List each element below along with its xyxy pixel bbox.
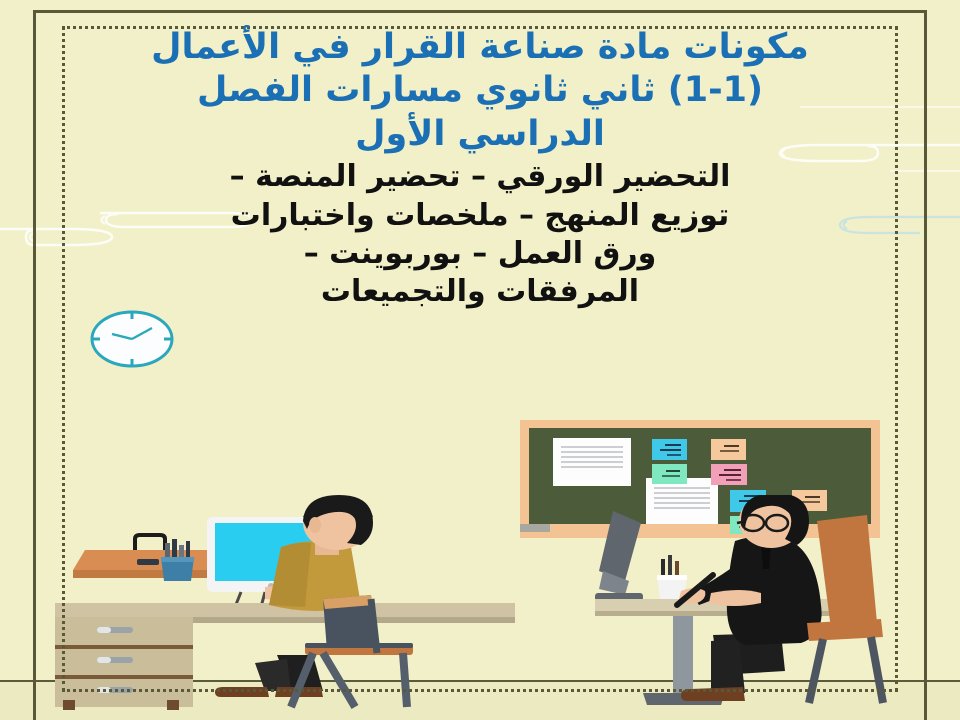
slide-title: مكونات مادة صناعة القرار في الأعمال (1-1… [80,26,880,156]
sticky-note-pink [711,464,747,485]
pen-cup-blue [161,539,194,581]
briefcase [73,535,227,578]
right-workstation-scene [595,495,935,710]
person-in-suit [677,495,822,701]
subtitle-line-2: توزيع المنهج – ملخصات واختبارات [126,197,834,235]
sticky-note-mint [652,464,687,484]
drawer-cabinet [55,617,193,710]
wall-clock-icon [88,308,176,370]
sticky-note-cyan [652,439,687,460]
text-block: مكونات مادة صناعة القرار في الأعمال (1-1… [80,26,880,312]
slide-subtitle: التحضير الورقي – تحضير المنصة – توزيع ال… [80,158,880,312]
slide-canvas: مكونات مادة صناعة القرار في الأعمال (1-1… [0,0,960,720]
title-line-1: مكونات مادة صناعة القرار في الأعمال [104,26,856,69]
computer-monitor-back [595,511,643,601]
left-workstation-scene [55,495,515,710]
title-line-3: الدراسي الأول [104,113,856,156]
title-line-2: (1-1) ثاني ثانوي مسارات الفصل [104,69,856,112]
subtitle-line-1: التحضير الورقي – تحضير المنصة – [126,158,834,196]
sticky-note-peach [711,439,746,460]
subtitle-line-4: المرفقات والتجميعات [126,273,834,311]
subtitle-line-3: ورق العمل – بوربوينت – [126,235,834,273]
